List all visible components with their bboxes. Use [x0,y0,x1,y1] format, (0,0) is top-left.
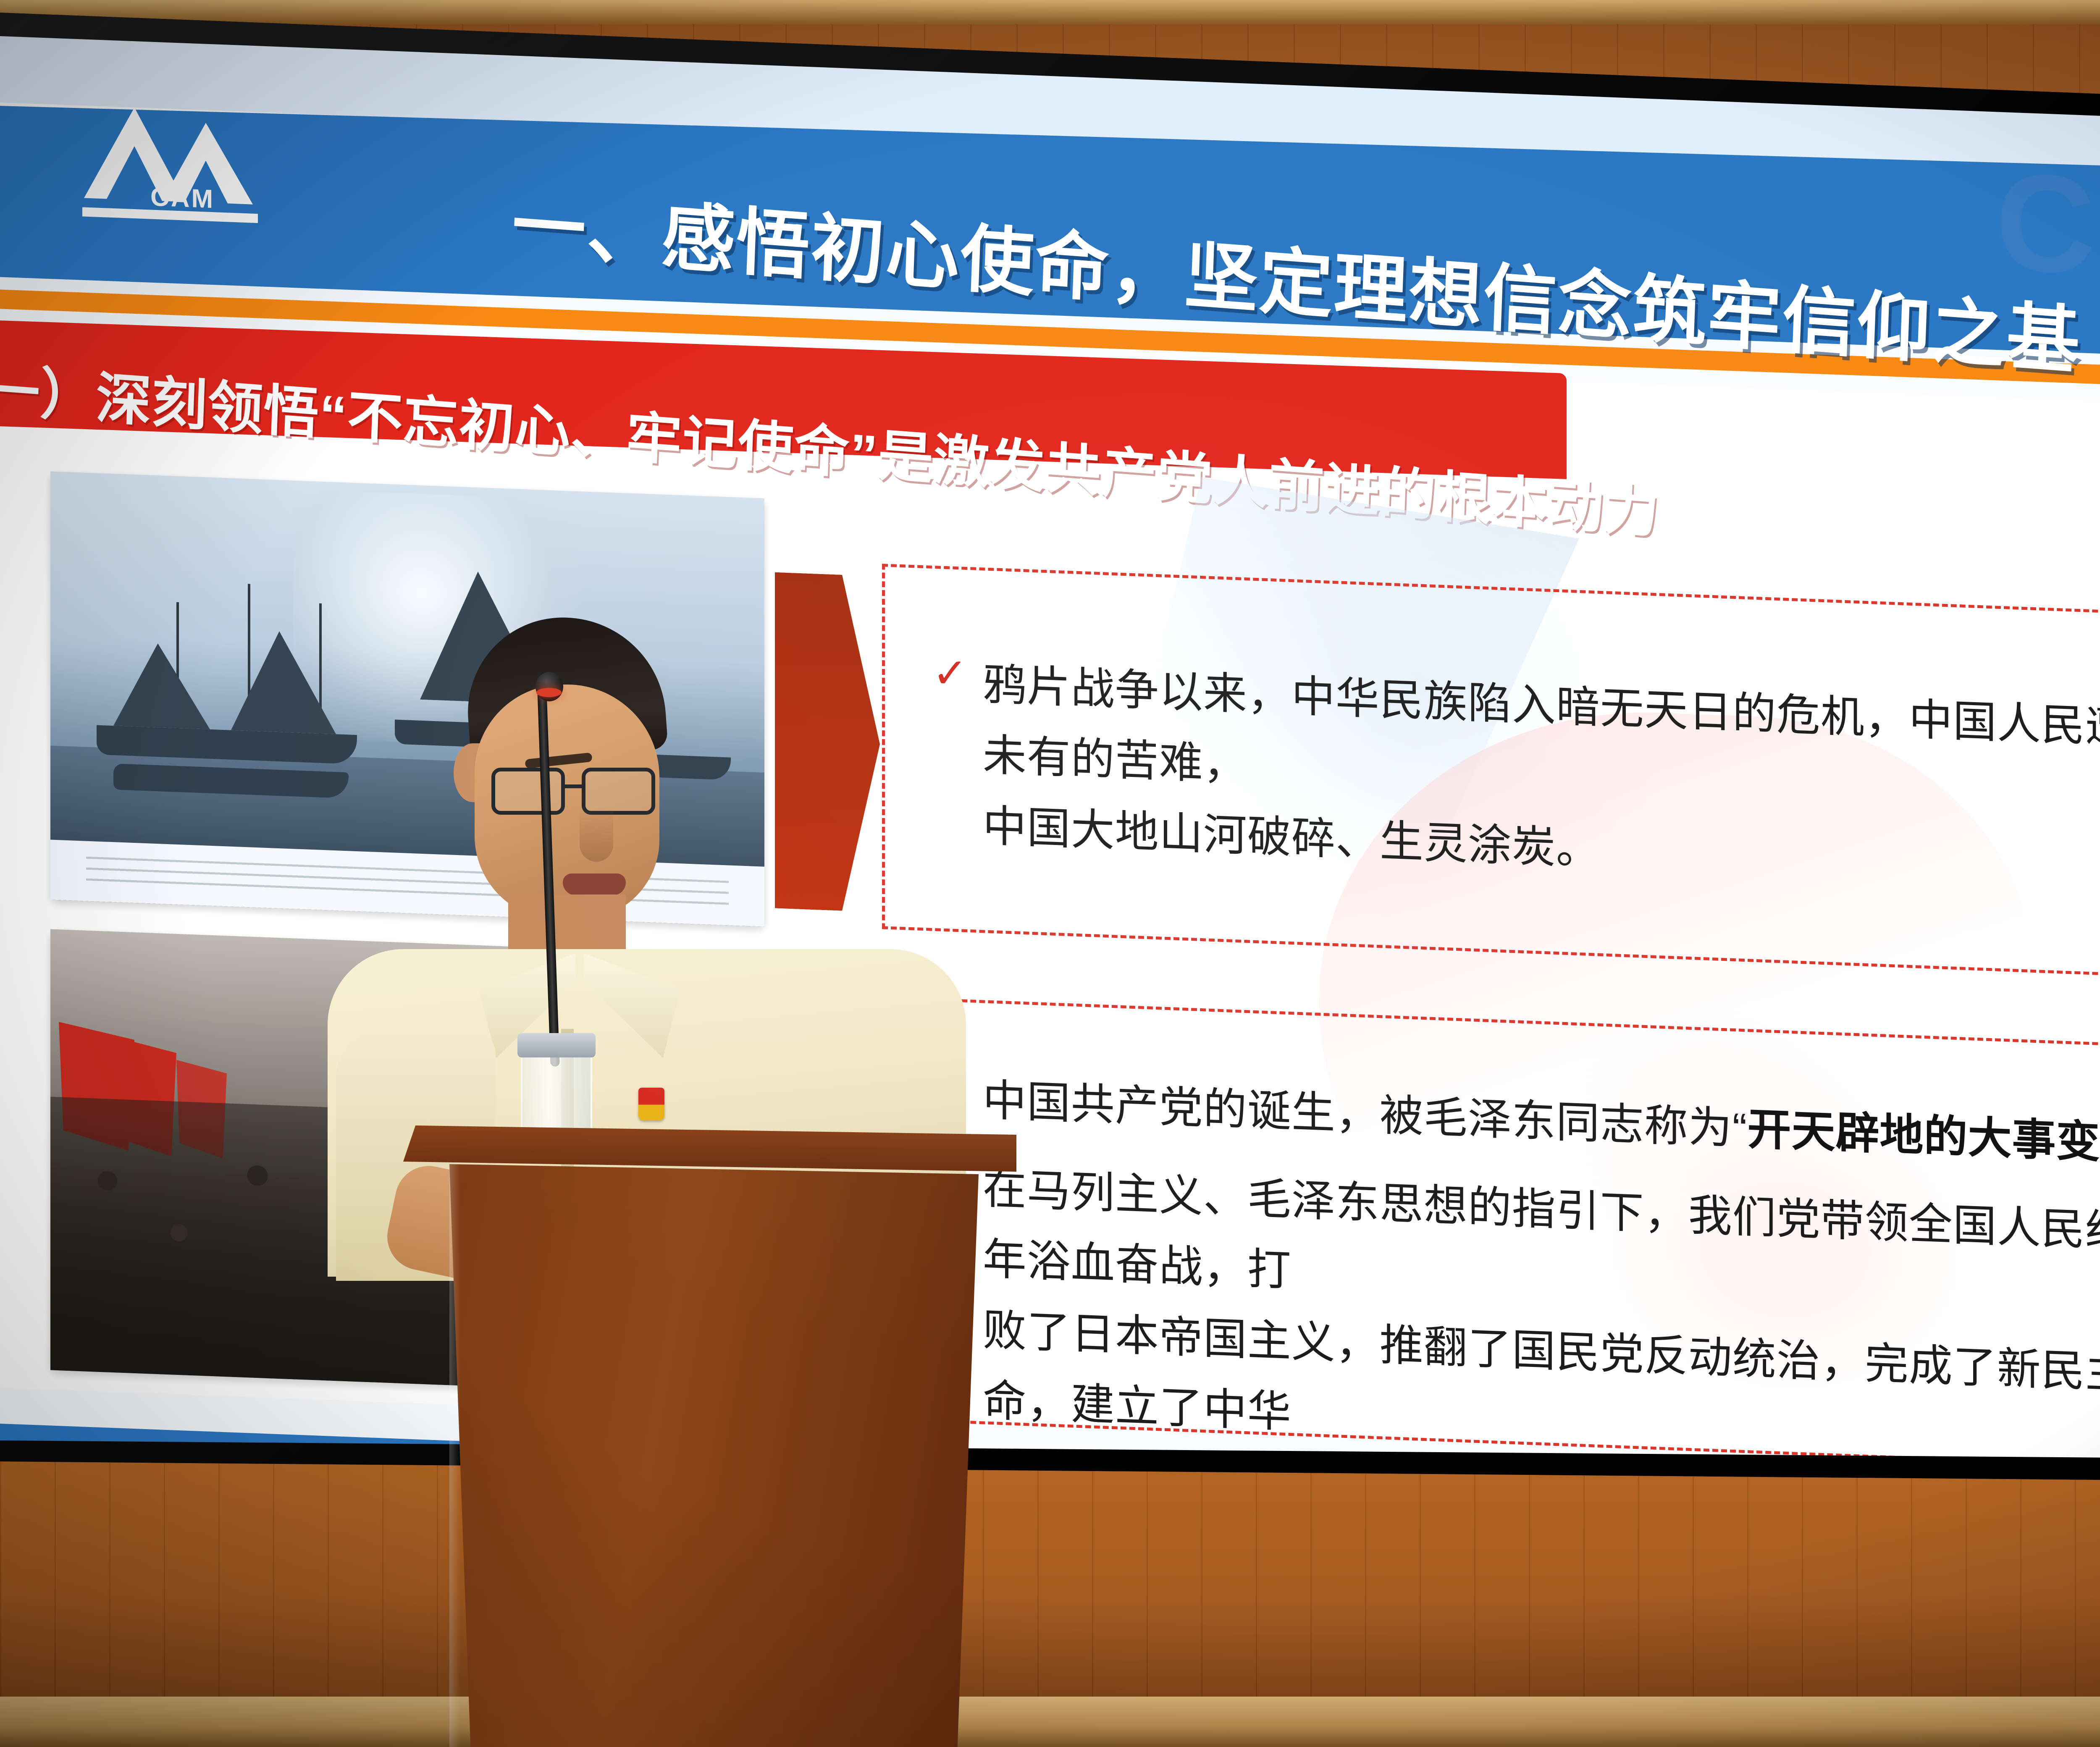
glasses-lens-left [491,768,565,815]
projection-screen: CAM CAM 一、感悟初心使命，坚定理想信念筑牢信仰之基 （一）深刻领悟“不忘… [0,0,2100,1520]
lectern-edge-highlight [449,1164,460,1747]
presentation-slide: CAM CAM 一、感悟初心使命，坚定理想信念筑牢信仰之基 （一）深刻领悟“不忘… [0,17,2100,1520]
lectern-body [449,1164,979,1747]
speaker-nose [580,807,613,862]
slide-perspective-wrapper: CAM CAM 一、感悟初心使命，坚定理想信念筑牢信仰之基 （一）深刻领悟“不忘… [0,17,2100,1520]
wall-top-trim [0,0,2100,24]
floor-strip [0,1697,2100,1747]
lectern-top [403,1125,1016,1172]
party-emblem-pin-icon [638,1088,664,1120]
cam-logo: CAM [80,97,260,230]
microphone-indicator-light [536,688,562,697]
lectern [403,1125,1016,1747]
glasses-icon [491,768,655,822]
screen-surface: CAM CAM 一、感悟初心使命，坚定理想信念筑牢信仰之基 （一）深刻领悟“不忘… [0,0,2100,1520]
water-glass-lid [517,1033,596,1057]
svg-text:CAM: CAM [150,182,215,214]
speaker-mouth [563,873,626,895]
conference-hall-scene: CAM CAM 一、感悟初心使命，坚定理想信念筑牢信仰之基 （一）深刻领悟“不忘… [0,0,2100,1747]
bullet-text-emphasis: 开天辟地的大事变 [1747,1105,2100,1167]
